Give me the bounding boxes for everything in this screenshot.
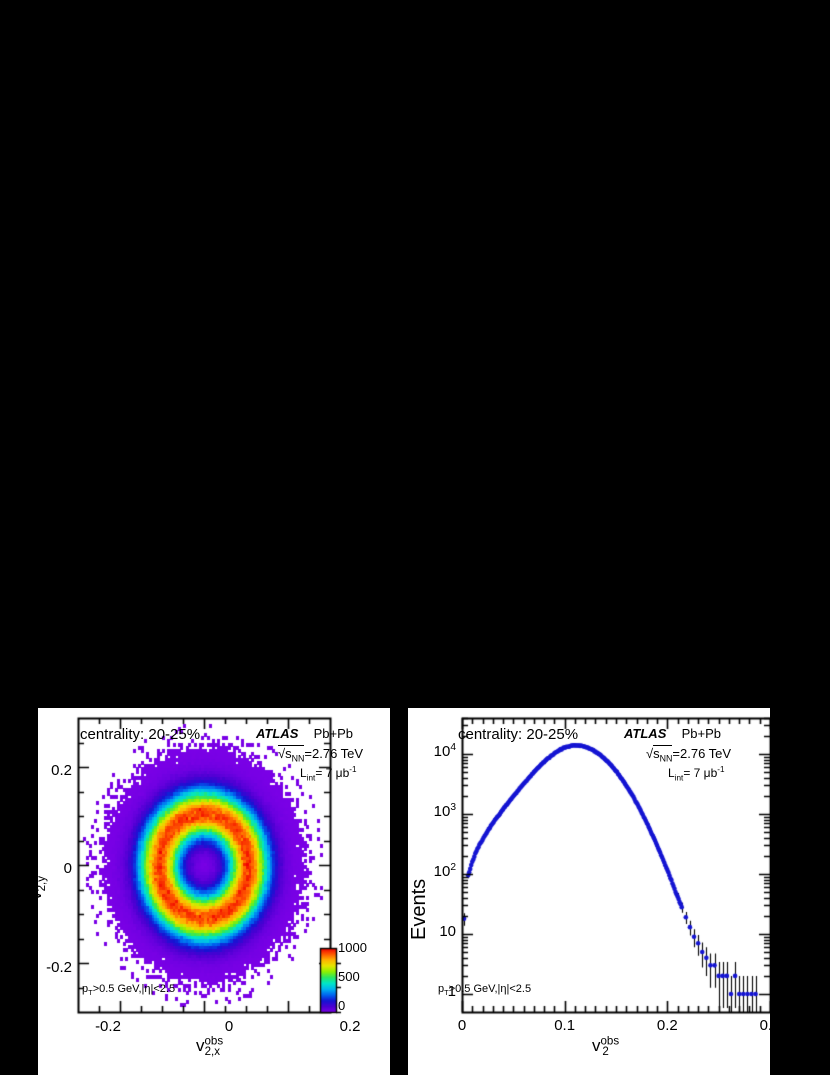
right-ytick-4: 104 — [398, 743, 456, 760]
colorbar-tick-0: 0 — [338, 998, 345, 1013]
collision-system-text: Pb+Pb — [314, 726, 353, 741]
right-ytick-3: 103 — [398, 803, 456, 820]
left-ytick-0: 0.2 — [40, 762, 72, 779]
right-xtick-3: 0.3 — [748, 1017, 792, 1034]
left-lumi-label: Lint= 7 μb-1 — [300, 766, 357, 780]
cuts-rest: >0.5 GeV,|η|<2.5 — [93, 983, 175, 995]
lumi-value: = 7 μb — [315, 766, 349, 780]
lumi-L: L — [300, 766, 307, 780]
colorbar-tick-500: 500 — [338, 969, 360, 984]
right-atlas-label: ATLAS Pb+Pb — [624, 726, 721, 741]
left-energy-label: √sNN=2.76 TeV — [278, 746, 363, 761]
left-xtick-0: -0.2 — [86, 1018, 130, 1035]
left-yaxis-title-text: vobs2,y — [26, 876, 46, 900]
right-xaxis-title-text: vobs2 — [592, 1036, 609, 1056]
right-ytick-1: 10 — [398, 923, 456, 940]
left-centrality-label: centrality: 20-25% — [80, 726, 200, 743]
left-plot-panel: centrality: 20-25% ATLAS Pb+Pb √sNN=2.76… — [38, 708, 390, 1075]
right-xtick-2: 0.2 — [645, 1017, 689, 1034]
cuts-rest-right: >0.5 GeV,|η|<2.5 — [449, 983, 531, 995]
left-xaxis-title-group — [188, 1030, 193, 1050]
lumi-exp-right: -1 — [717, 765, 724, 774]
right-xtick-1: 0.1 — [543, 1017, 587, 1034]
colorbar-tick-1000: 1000 — [338, 940, 367, 955]
energy-sub: NN — [292, 754, 305, 764]
lumi-L-right: L — [668, 766, 675, 780]
right-ytick-0: 1 — [398, 983, 456, 1000]
collision-system-text-right: Pb+Pb — [682, 726, 721, 741]
left-xaxis-title-text: vobs2,x — [196, 1036, 220, 1056]
left-xtick-1: 0 — [207, 1018, 251, 1035]
lumi-exp: -1 — [349, 765, 356, 774]
right-energy-label: √sNN=2.76 TeV — [646, 746, 731, 761]
energy-value: =2.76 TeV — [304, 746, 363, 761]
right-lumi-label: Lint= 7 μb-1 — [668, 766, 725, 780]
energy-value-right: =2.76 TeV — [672, 746, 731, 761]
left-xtick-2: 0.2 — [328, 1018, 372, 1035]
left-cuts-label: pT>0.5 GeV,|η|<2.5 — [82, 983, 175, 995]
left-ytick-1: 0 — [40, 860, 72, 877]
left-ytick-2: -0.2 — [40, 959, 72, 976]
right-xtick-0: 0 — [440, 1017, 484, 1034]
left-atlas-label: ATLAS Pb+Pb — [256, 726, 353, 741]
figure-root: centrality: 20-25% ATLAS Pb+Pb √sNN=2.76… — [0, 0, 830, 1075]
atlas-text: ATLAS — [256, 726, 298, 741]
energy-sub-right: NN — [660, 754, 673, 764]
right-centrality-label: centrality: 20-25% — [458, 726, 578, 743]
atlas-text-right: ATLAS — [624, 726, 666, 741]
right-ytick-2: 102 — [398, 863, 456, 880]
lumi-value-right: = 7 μb — [683, 766, 717, 780]
